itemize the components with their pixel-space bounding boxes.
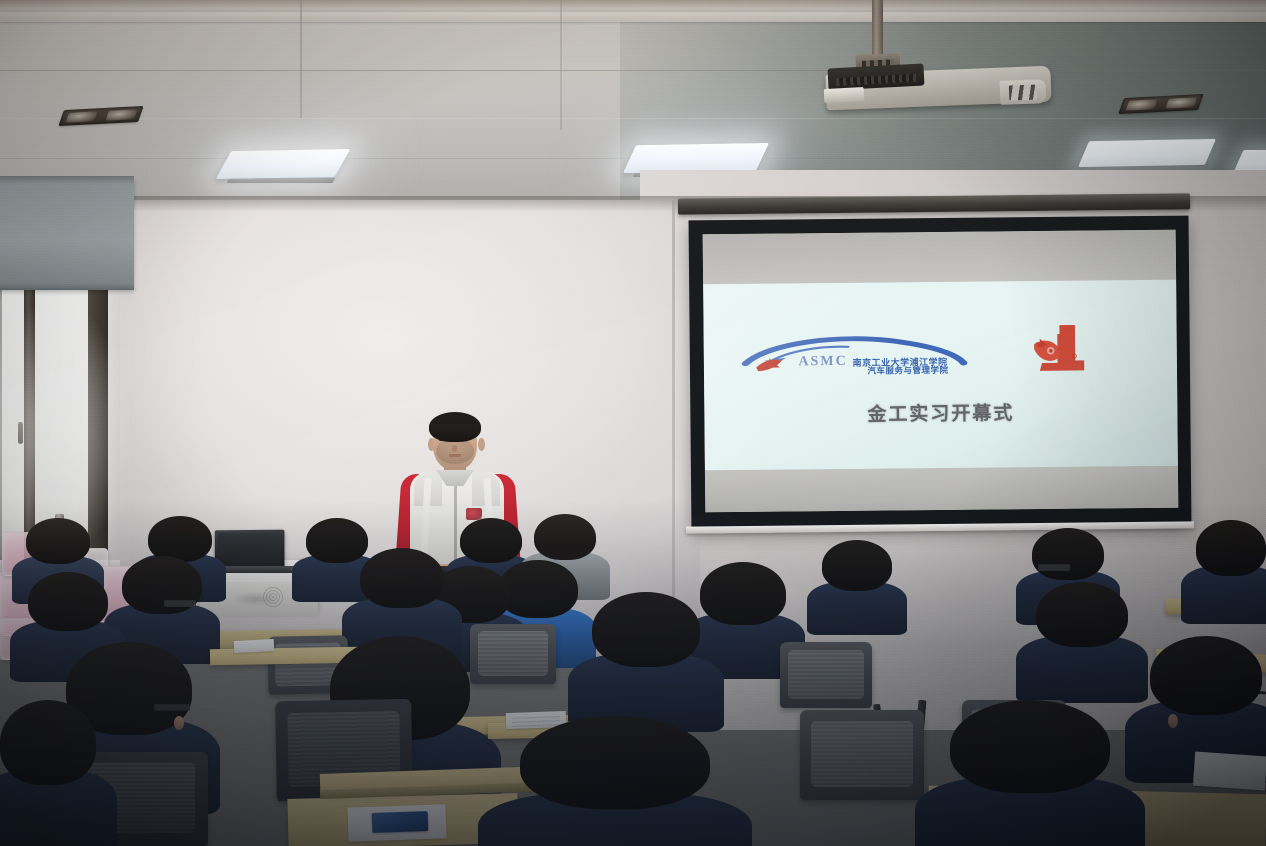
paper-sheet <box>234 639 275 653</box>
asmc-school-logo: ASMC 南京工业大学浦江学院 汽车服务与管理学院 <box>737 329 983 380</box>
eyeglasses <box>1038 564 1070 571</box>
student-head <box>498 560 578 618</box>
wall-speaker-grille <box>262 586 284 608</box>
presenter-ear <box>478 438 485 451</box>
paper-sheet <box>1193 752 1266 791</box>
student-head <box>460 518 522 563</box>
blind-roller-housing <box>0 176 134 184</box>
screen-matte-bottom <box>705 466 1178 512</box>
student-head <box>0 700 96 785</box>
student-head <box>360 548 444 608</box>
ceiling-led-panel <box>216 149 351 179</box>
screen-matte-top <box>703 230 1176 285</box>
student-head <box>26 518 90 564</box>
student-head <box>822 540 892 591</box>
smartphone[interactable] <box>372 811 429 833</box>
eyeglasses <box>164 600 196 607</box>
window-roller-blind[interactable] <box>0 178 134 290</box>
ceiling-led-panel <box>623 143 769 173</box>
student-ear <box>1168 714 1178 728</box>
ceiling-led-panel <box>1078 139 1216 167</box>
slide-title: 金工实习开幕式 <box>704 397 1177 429</box>
window-jamb <box>88 286 108 566</box>
student <box>700 562 786 670</box>
student <box>822 540 892 628</box>
student <box>1196 520 1266 616</box>
student <box>306 518 368 596</box>
asmc-acronym: ASMC <box>798 354 847 370</box>
chair[interactable] <box>780 642 872 708</box>
student-head <box>520 716 710 809</box>
classroom-photo: ASMC 南京工业大学浦江学院 汽车服务与管理学院 <box>0 0 1266 846</box>
slide-logo-row: ASMC 南京工业大学浦江学院 汽车服务与管理学院 <box>703 313 1177 396</box>
student-head <box>1150 636 1262 715</box>
projector-mount-pole <box>872 0 883 58</box>
student-head <box>1032 528 1104 580</box>
student-head <box>1036 582 1128 647</box>
student <box>1036 582 1128 694</box>
chair[interactable] <box>800 710 924 800</box>
student-ear <box>174 716 184 730</box>
student-head <box>534 514 596 560</box>
student-head <box>950 700 1110 793</box>
led-panel-housing <box>227 178 336 183</box>
chair-mesh-back <box>811 721 913 788</box>
asmc-institution-line-2: 汽车服务与管理学院 <box>867 363 948 376</box>
student-head <box>700 562 786 625</box>
presenter-mouth <box>449 454 461 457</box>
chair-mesh-back <box>478 631 549 675</box>
projection-screen: ASMC 南京工业大学浦江学院 汽车服务与管理学院 <box>689 216 1192 531</box>
student <box>592 592 700 722</box>
student-head <box>1196 520 1266 576</box>
ceiling-seam <box>0 70 1266 71</box>
student <box>520 716 710 846</box>
ceiling-seam <box>0 118 1266 119</box>
student-head <box>306 518 368 563</box>
projector-lens <box>824 87 865 103</box>
presenter-nose <box>452 445 457 452</box>
ceiling-seam-vertical <box>560 0 562 130</box>
student <box>950 700 1110 846</box>
screen-surface: ASMC 南京工业大学浦江学院 汽车服务与管理学院 <box>703 230 1179 513</box>
window-handle[interactable] <box>18 422 23 444</box>
student-head <box>592 592 700 667</box>
student <box>0 700 96 846</box>
presenter-hair <box>429 412 481 442</box>
laptop-screen <box>218 533 282 567</box>
chair[interactable] <box>470 624 556 684</box>
student-head <box>28 572 108 631</box>
student-with-glasses <box>122 556 202 656</box>
chair-mesh-back <box>788 650 863 699</box>
ceiling-seam-vertical <box>300 0 302 118</box>
eyeglasses <box>154 704 190 711</box>
ceiling-edge-band-lower <box>0 12 1266 22</box>
projector-vent <box>1000 79 1047 105</box>
dragon-company-logo: R <box>1002 322 1116 384</box>
projected-slide: ASMC 南京工业大学浦江学院 汽车服务与管理学院 <box>703 280 1178 471</box>
laptop[interactable] <box>215 530 285 569</box>
